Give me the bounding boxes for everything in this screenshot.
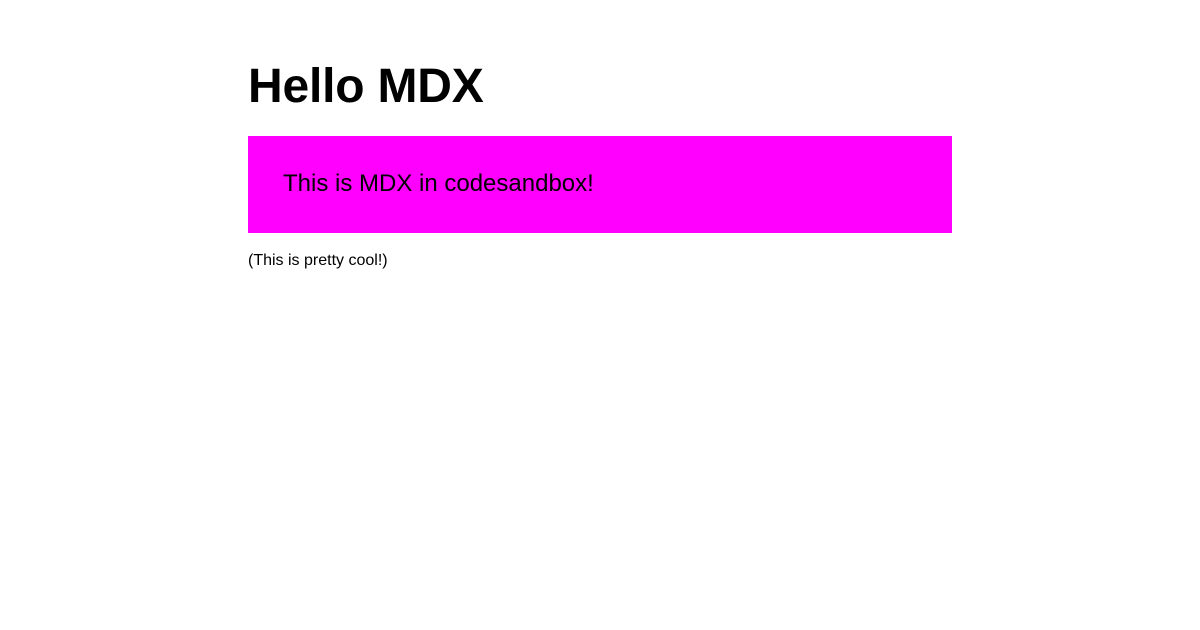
callout-text: This is MDX in codesandbox!	[283, 167, 594, 201]
page-root: Hello MDX This is MDX in codesandbox! (T…	[0, 0, 1200, 630]
note-paragraph: (This is pretty cool!)	[248, 233, 952, 273]
content-column: Hello MDX This is MDX in codesandbox! (T…	[248, 0, 952, 273]
page-title: Hello MDX	[248, 0, 952, 114]
callout-block: This is MDX in codesandbox!	[248, 136, 952, 233]
